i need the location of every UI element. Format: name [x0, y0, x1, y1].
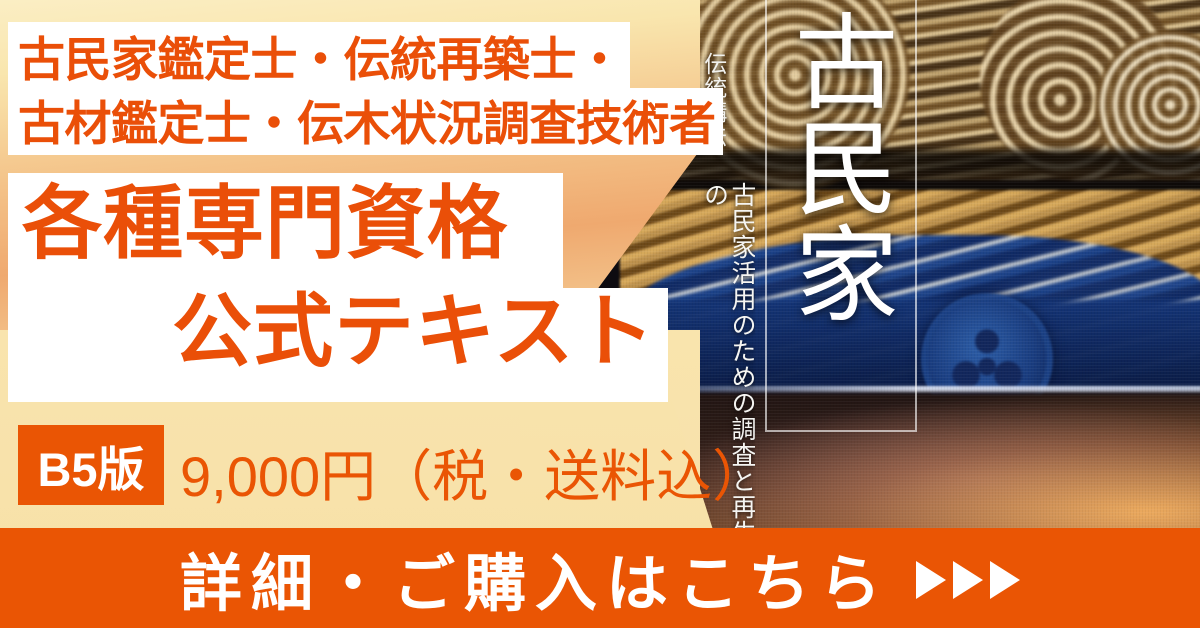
headline-line-2: 古材鑑定士・伝木状況調査技術者: [18, 92, 718, 156]
format-badge-b5: B5版: [18, 425, 164, 505]
cta-arrows-icon: [916, 561, 1020, 599]
product-title-line-2: 公式テキスト: [172, 292, 656, 372]
headline-line-1: 古民家鑑定士・伝統再築士・: [18, 33, 623, 86]
arrow-right-icon-1: [916, 561, 946, 599]
book-cover-title: 古民家: [792, 8, 902, 326]
cta-label: 詳細・ご購入はこちら: [180, 533, 890, 623]
arrow-right-icon-3: [990, 561, 1020, 599]
cta-button-bar[interactable]: 詳細・ご購入はこちら: [0, 528, 1200, 628]
promo-banner: 古民家 伝統構法 古民家活用のための調査と再生の 古民家鑑定士・伝統再築士・ 古…: [0, 0, 1200, 628]
product-title-line-1: 各種専門資格: [22, 184, 508, 264]
price-label: 9,000円（税・送料込）: [180, 432, 768, 513]
qualification-headline: 古民家鑑定士・伝統再築士・ 古材鑑定士・伝木状況調査技術者: [18, 28, 718, 156]
arrow-right-icon-2: [953, 561, 983, 599]
